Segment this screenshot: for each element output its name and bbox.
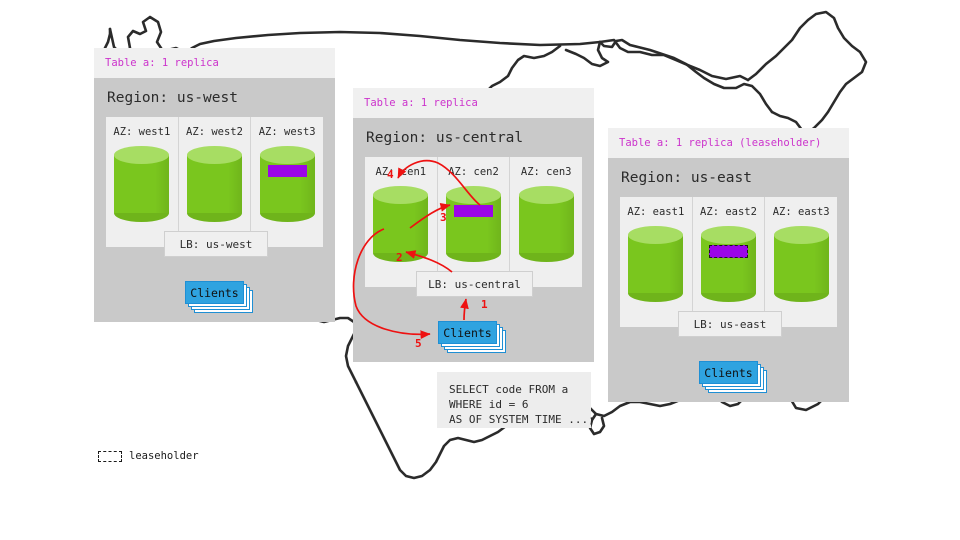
arrow-number-1: 1 bbox=[481, 298, 488, 311]
arrow-number-2: 2 bbox=[396, 251, 403, 264]
arrow-number-5: 5 bbox=[415, 337, 422, 350]
legend-label: leaseholder bbox=[129, 450, 199, 462]
dashed-rect-swatch bbox=[98, 451, 122, 462]
diagram-canvas: Table a: 1 replica Region: us-west AZ: w… bbox=[0, 0, 960, 540]
legend-leaseholder: leaseholder bbox=[98, 450, 199, 462]
arrow-number-4: 4 bbox=[387, 168, 394, 181]
arrow-number-3: 3 bbox=[440, 211, 447, 224]
